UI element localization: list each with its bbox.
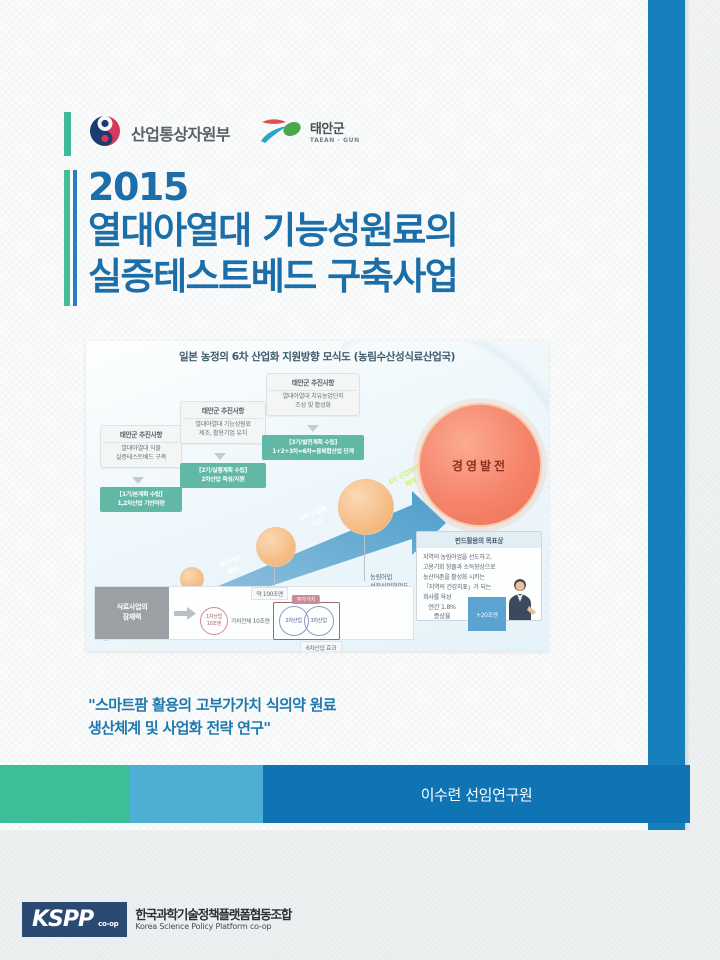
goal-circle: 경영발전 [418, 403, 542, 527]
band-green [0, 765, 130, 823]
stage-box-2: [2기/실행계획 수립] 2차산업 육성/지원 [180, 463, 266, 488]
plan-arrow-2 [214, 453, 226, 460]
title-accent-bars [64, 170, 78, 306]
goal-circle-label: 경영발전 [452, 457, 508, 474]
taean-mark-icon [256, 115, 304, 151]
footer: KSPP co-op 한국과학기술정책플랫폼협동조합 Korea Science… [0, 830, 720, 960]
plan-box-3-header: 태안군 추진사항 [269, 377, 357, 391]
ministry-logo: 산업통상자원부 [88, 114, 230, 152]
value-added-label: 가치전체 10조엔 [231, 616, 270, 625]
title-year: 2015 [88, 166, 588, 208]
presenter-name: 이수련 선임연구원 [263, 765, 690, 823]
kspp-org-en: Korea Science Policy Platform co-op [135, 922, 291, 931]
slide-page: 산업통상자원부 태안군 TAEAN · GUN 2015 열대아열대 기능성원료… [0, 0, 720, 960]
kspp-logo-mark: KSPP co-op [22, 902, 127, 937]
kspp-logo: KSPP co-op 한국과학기술정책플랫폼협동조합 Korea Science… [22, 902, 291, 937]
kspp-org-kr: 한국과학기술정책플랫폼협동조합 [135, 908, 291, 922]
title-accent-blue [73, 170, 77, 306]
primary-industry-circle: 1차산업 10조엔 [200, 607, 228, 635]
plan-box-1-header: 태안군 추진사항 [103, 429, 179, 443]
plan-box-3-body: 열대아열대 치유농업단지 조성 및 활성화 [269, 393, 357, 411]
stage-box-1: [1기/본계획 수립] 1,2차산업 기반마련 [100, 487, 182, 512]
growth-rate-label: 연간 1.8% 증상율 [422, 603, 462, 621]
potential-label: 식료사업의 잠재력 [95, 587, 169, 639]
person-illustration-icon [503, 576, 537, 620]
plan-box-2-body: 열대아열대 기능성원료 제조, 활용기업 유치 [183, 421, 263, 439]
band-blue: 이수련 선임연구원 [263, 765, 690, 823]
value-chain-bar: 식료사업의 잠재력 약 100조엔 1차산업 10조엔 가치전체 10조엔 부가… [94, 586, 414, 640]
county-logo: 태안군 TAEAN · GUN [256, 115, 360, 151]
sixth-industry-effect-label: 6차산업 효과 [300, 641, 342, 651]
ministry-logo-label: 산업통상자원부 [131, 121, 230, 145]
title-line-2: 실증테스트베드 구축사업 [88, 254, 588, 300]
plan-arrow-3 [307, 425, 319, 432]
county-logo-en: TAEAN · GUN [310, 138, 360, 144]
tertiary-industry-circle: 3차산업 [304, 606, 334, 636]
industry-pair-box: 부가가치 2차산업 3차산업 [273, 602, 340, 640]
quote-line-1: "스마트팜 활용의 고부가가치 식의약 원료 [88, 694, 528, 717]
plan-box-1: 태안군 추진사항 열대아열대 식물 실증테스트베드 구축 [100, 425, 182, 468]
county-logo-text: 태안군 TAEAN · GUN [310, 123, 360, 144]
plan-box-1-body: 열대아열대 식물 실증테스트베드 구축 [103, 445, 179, 463]
page-title: 2015 열대아열대 기능성원료의 실증테스트베드 구축사업 [88, 166, 588, 300]
plan-box-3: 태안군 추진사항 열대아열대 치유농업단지 조성 및 활성화 [266, 373, 360, 416]
title-accent-green [64, 170, 70, 306]
sheet-shadow [685, 0, 690, 830]
kspp-coop-label: co-op [98, 920, 118, 928]
leader-line-3 [364, 535, 365, 581]
county-logo-kr: 태안군 [310, 123, 360, 136]
diagram-figure: 일본 농정의 6차 산업화 지원방향 모식도 (농림수산성식료산업국) 생산기반… [86, 341, 548, 651]
color-band-row: 이수련 선임연구원 [0, 765, 690, 823]
fund-box-header: 펀드활용의 목표상 [417, 532, 541, 548]
logo-row: 산업통상자원부 태안군 TAEAN · GUN [64, 108, 360, 158]
title-line-1: 열대아열대 기능성원료의 [88, 208, 588, 254]
band-lightblue [130, 765, 263, 823]
right-arrow-icon [174, 607, 196, 620]
pair-tag-label: 부가가치 [292, 595, 320, 604]
kspp-wordmark: KSPP [32, 907, 93, 932]
plan-arrow-1 [132, 477, 144, 484]
taegeuk-icon [88, 114, 122, 152]
stage-box-3: [3기/발전계획 수립] 1+2+3차=6차=융복합산업 단계 [262, 435, 364, 460]
research-quote: "스마트팜 활용의 고부가가치 식의약 원료 생산체계 및 사업화 전략 연구" [88, 694, 528, 739]
gain-box: +20조엔 [468, 597, 506, 631]
diagram-title: 일본 농정의 6차 산업화 지원방향 모식도 (농림수산성식료산업국) [86, 349, 548, 364]
plan-box-2: 태안군 추진사항 열대아열대 기능성원료 제조, 활용기업 유치 [180, 401, 266, 444]
quote-line-2: 생산체계 및 사업화 전략 연구" [88, 717, 528, 740]
kspp-org-text: 한국과학기술정책플랫폼협동조합 Korea Science Policy Pla… [135, 908, 291, 932]
total-value-label: 약 100조엔 [251, 587, 288, 600]
plan-box-2-header: 태안군 추진사항 [183, 405, 263, 419]
right-accent-stripe [648, 0, 685, 830]
